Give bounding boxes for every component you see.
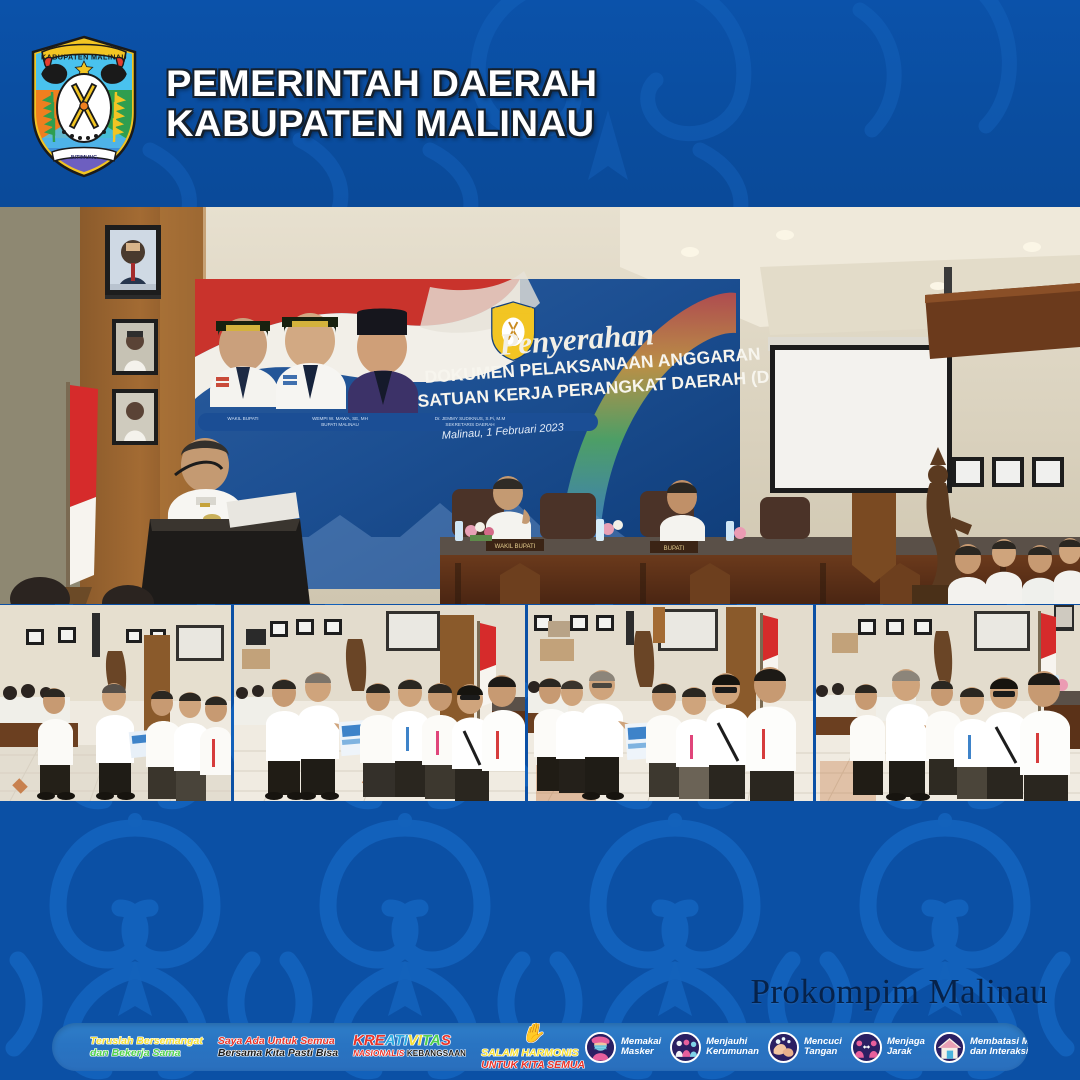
slogan-kreativitas: KREATIVITAS NASIONALIS KEBANGSAAN xyxy=(353,1034,466,1060)
thumbnail-strip xyxy=(0,605,1080,801)
slogan-2-line2: Bersama Kita Pasti Bisa xyxy=(218,1047,338,1059)
thumbnail-photo-4[interactable] xyxy=(816,605,1080,801)
keep-distance-icon xyxy=(851,1032,882,1063)
hand-wave-icon: ✋ xyxy=(521,1024,545,1043)
protocol-mencuci-tangan: MencuciTangan xyxy=(768,1032,842,1063)
thumbnail-photo-3[interactable] xyxy=(528,605,813,801)
thumbnail-photo-2[interactable] xyxy=(234,605,525,801)
slogan-1-line2: dan Bekerja Sama xyxy=(90,1047,203,1059)
svg-text:INTIMUNG: INTIMUNG xyxy=(71,155,98,161)
svg-text:WAKIL BUPATI: WAKIL BUPATI xyxy=(495,544,536,550)
mask-face-icon xyxy=(585,1032,616,1063)
slogan-4-line2: UNTUK KITA SEMUA xyxy=(481,1059,585,1071)
slogan-3-line1: KREATIVITAS xyxy=(353,1034,466,1047)
protocol-3-label: MencuciTangan xyxy=(804,1037,842,1058)
stay-home-icon xyxy=(934,1032,965,1063)
protocol-membatasi-mobilisasi: Membatasi Mobilisasidan Interaksi xyxy=(934,1032,1028,1063)
slogan-group: Teruslah Bersemangat dan Bekerja Sama Sa… xyxy=(90,1024,585,1071)
page-header: KABUPATEN MALINAU xyxy=(0,0,1080,207)
slogan-saya-ada-untuk-semua: Saya Ada Untuk Semua Bersama Kita Pasti … xyxy=(218,1035,338,1059)
svg-text:WEMPI W. MAWA, SE, MH: WEMPI W. MAWA, SE, MH xyxy=(312,416,368,421)
avoid-crowd-icon xyxy=(670,1032,701,1063)
slogan-salam-harmonis: ✋ SALAM HARMONIS UNTUK KITA SEMUA xyxy=(481,1024,585,1071)
svg-text:Dr. JEMMY SUDIKNUS, S.Pi, M.M: Dr. JEMMY SUDIKNUS, S.Pi, M.M xyxy=(435,416,506,421)
main-photo: WAKIL BUPATI WEMPI W. MAWA, SE, MH Dr. J… xyxy=(0,207,1080,604)
protocol-menjaga-jarak: MenjagaJarak xyxy=(851,1032,925,1063)
svg-text:WAKIL BUPATI: WAKIL BUPATI xyxy=(227,416,258,421)
svg-text:BUPATI MALINAU: BUPATI MALINAU xyxy=(321,422,359,427)
page-title-line1: PEMERINTAH DAERAH xyxy=(166,64,598,104)
slogan-4-line1: SALAM HARMONIS xyxy=(481,1047,585,1059)
wash-hands-icon xyxy=(768,1032,799,1063)
protocol-menjauhi-kerumunan: MenjauhiKerumunan xyxy=(670,1032,759,1063)
protocol-memakai-masker: MemakaiMasker xyxy=(585,1032,661,1063)
slogan-teruslah-bersemangat: Teruslah Bersemangat dan Bekerja Sama xyxy=(90,1035,203,1059)
slogan-2-line1: Saya Ada Untuk Semua xyxy=(218,1035,338,1047)
slogan-3-line2: NASIONALIS KEBANGSAAN xyxy=(353,1047,466,1060)
slogan-1-line1: Teruslah Bersemangat xyxy=(90,1035,203,1047)
protocol-2-label: MenjauhiKerumunan xyxy=(706,1037,759,1058)
kabupaten-malinau-coat-of-arms: KABUPATEN MALINAU xyxy=(24,30,144,178)
footer-banner: Teruslah Bersemangat dan Bekerja Sama Sa… xyxy=(52,1023,1028,1071)
svg-text:BUPATI: BUPATI xyxy=(664,546,685,552)
photo-credit: Prokompim Malinau xyxy=(751,972,1048,1012)
protocol-5-label: Membatasi Mobilisasidan Interaksi xyxy=(970,1037,1028,1058)
protocol-1-label: MemakaiMasker xyxy=(621,1037,661,1058)
protocol-4-label: MenjagaJarak xyxy=(887,1037,925,1058)
health-protocol-group: MemakaiMasker MenjauhiKerumunan xyxy=(585,1032,1028,1063)
page-title: PEMERINTAH DAERAH KABUPATEN MALINAU xyxy=(166,64,585,144)
thumbnail-photo-1[interactable] xyxy=(0,605,231,801)
page-title-line2: KABUPATEN MALINAU xyxy=(166,104,598,144)
